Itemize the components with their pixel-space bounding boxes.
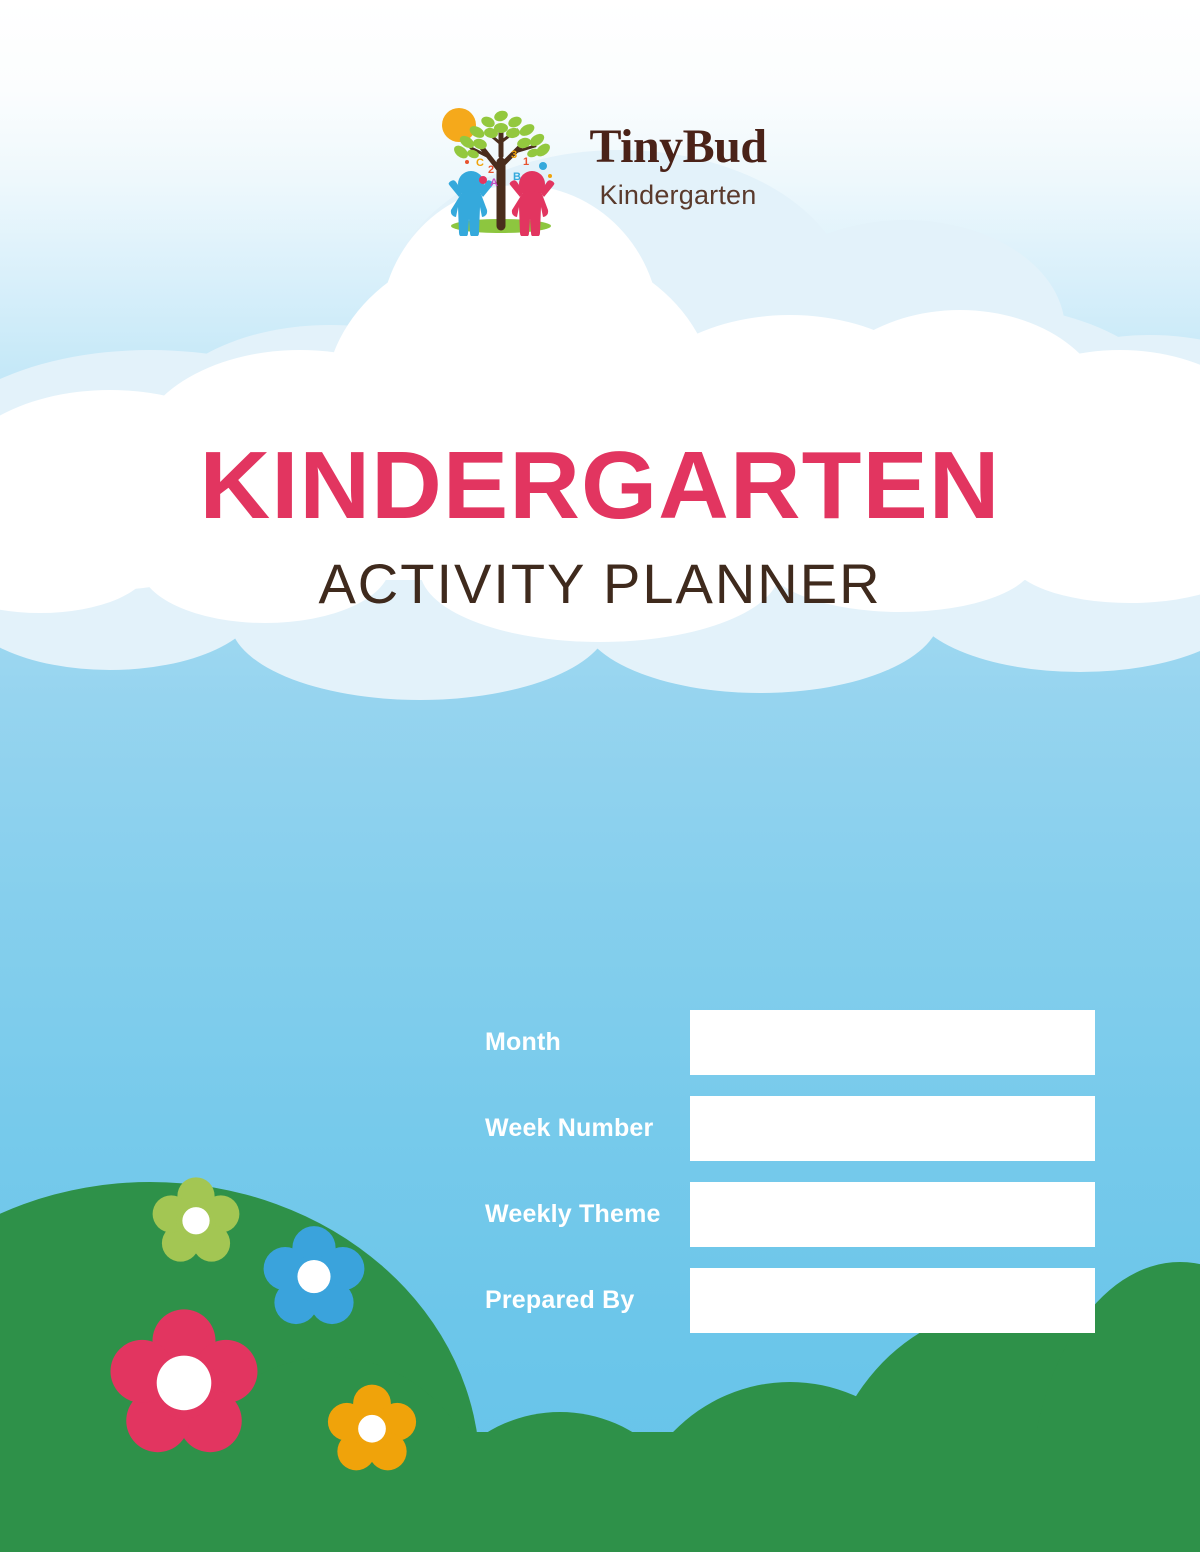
svg-text:1: 1 (523, 156, 529, 168)
prepared-by-label: Prepared By (485, 1288, 690, 1313)
form-row-week-number: Week Number (485, 1096, 1095, 1161)
svg-text:2: 2 (488, 164, 494, 176)
month-input[interactable] (690, 1010, 1095, 1075)
flower-pink-icon (111, 1309, 258, 1452)
page-title-block: KINDERGARTEN ACTIVITY PLANNER (0, 438, 1200, 612)
prepared-by-input[interactable] (690, 1268, 1095, 1333)
form-row-weekly-theme: Weekly Theme (485, 1182, 1095, 1247)
brand-wordmark: TinyBud Kindergarten (589, 123, 766, 213)
planner-meta-form: Month Week Number Weekly Theme Prepared … (485, 1010, 1095, 1333)
svg-text:A: A (490, 177, 498, 189)
form-row-month: Month (485, 1010, 1095, 1075)
page-subtitle: ACTIVITY PLANNER (0, 556, 1200, 612)
kindergarten-activity-planner-cover: C 2 A B 3 1 TinyBud Kindergarten KINDERG… (0, 0, 1200, 1552)
month-label: Month (485, 1030, 690, 1055)
flower-green-icon (153, 1177, 240, 1261)
brand-subtitle: Kindergarten (599, 177, 756, 213)
week-number-label: Week Number (485, 1116, 690, 1141)
flower-blue-icon (264, 1226, 365, 1324)
svg-text:B: B (513, 171, 521, 183)
page-title: KINDERGARTEN (0, 438, 1200, 534)
svg-text:3: 3 (511, 149, 517, 161)
week-number-input[interactable] (690, 1096, 1095, 1161)
weekly-theme-label: Weekly Theme (485, 1202, 690, 1227)
form-row-prepared-by: Prepared By (485, 1268, 1095, 1333)
tree-with-children-logo: C 2 A B 3 1 (433, 100, 569, 236)
brand-name: TinyBud (589, 123, 766, 171)
weekly-theme-input[interactable] (690, 1182, 1095, 1247)
flower-orange-icon (328, 1385, 416, 1471)
sun-icon (442, 108, 476, 142)
brand-logo-block: C 2 A B 3 1 TinyBud Kindergarten (0, 100, 1200, 236)
svg-text:C: C (476, 157, 484, 169)
